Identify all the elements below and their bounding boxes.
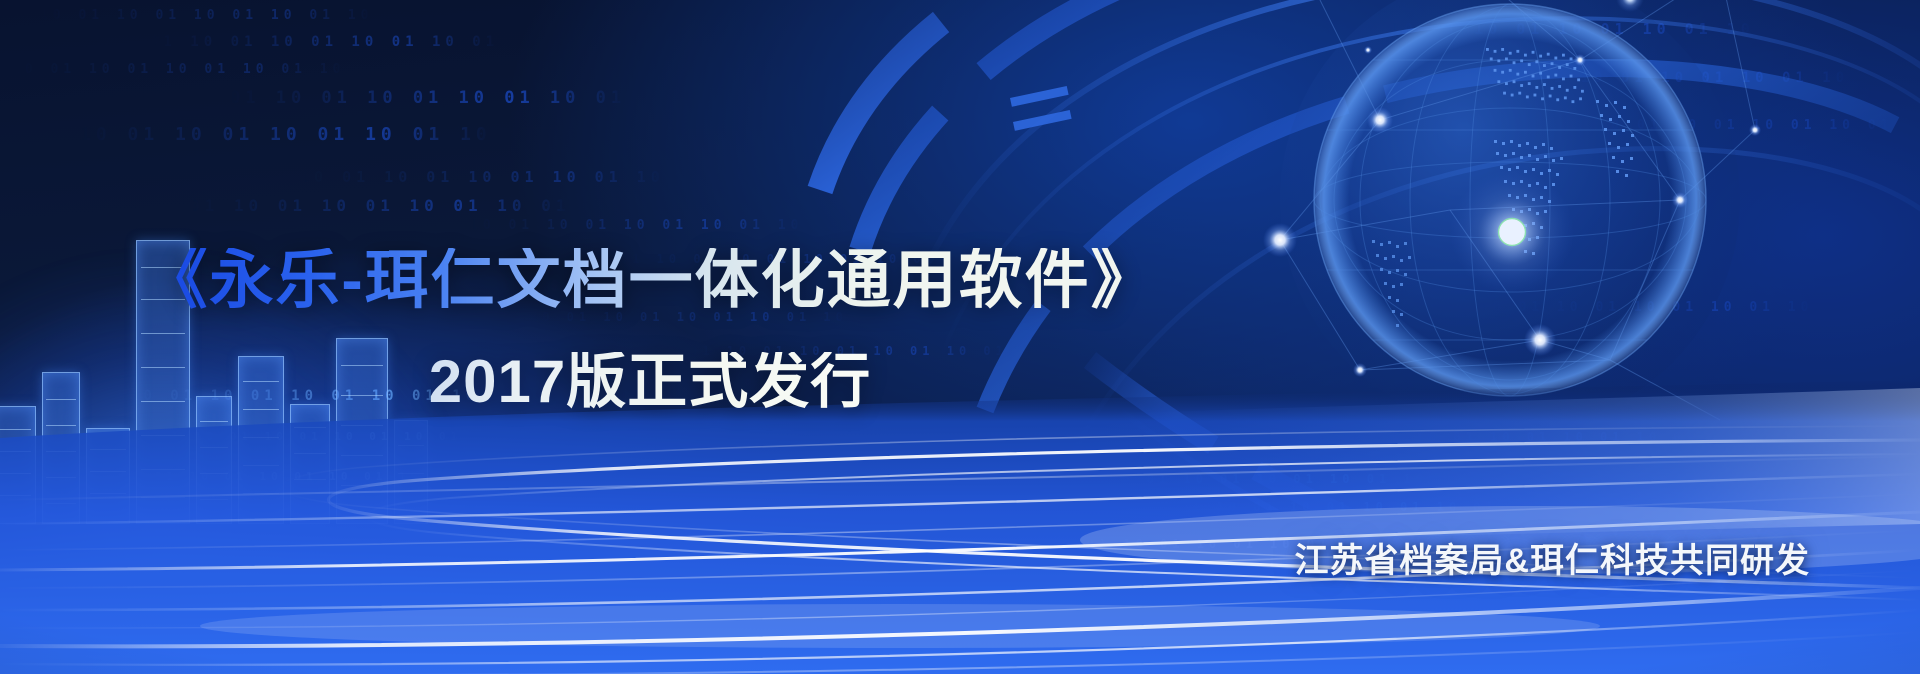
binary-row: 10 01 10 01 10 01 10 01 10 <box>1390 20 1755 38</box>
promo-banner: 10 01 10 01 10 01 10 01 10 01 10 01 10 0… <box>0 0 1920 674</box>
banner-footer-credit: 江苏省档案局&珥仁科技共同研发 <box>1294 533 1810 582</box>
binary-row: 01 10 01 10 01 10 01 10 01 <box>1560 118 1894 133</box>
binary-row: 10 01 10 01 10 01 10 01 10 <box>1480 300 1814 315</box>
banner-subtitle: 2017版正式发行 <box>0 352 1300 412</box>
globe-svg <box>1250 0 1770 460</box>
banner-copy: 《永乐-珥仁文档一体化通用软件》 2017版正式发行 <box>0 0 1300 674</box>
digital-globe <box>1250 0 1770 460</box>
binary-row: 01 10 01 10 01 10 01 10 01 <box>1380 430 1698 444</box>
globe-hotspot <box>1450 170 1574 294</box>
banner-title: 《永乐-珥仁文档一体化通用软件》 <box>0 248 1300 312</box>
network-node <box>1263 0 1761 377</box>
binary-row: 10 01 10 01 10 01 10 01 10 <box>1500 70 1849 86</box>
